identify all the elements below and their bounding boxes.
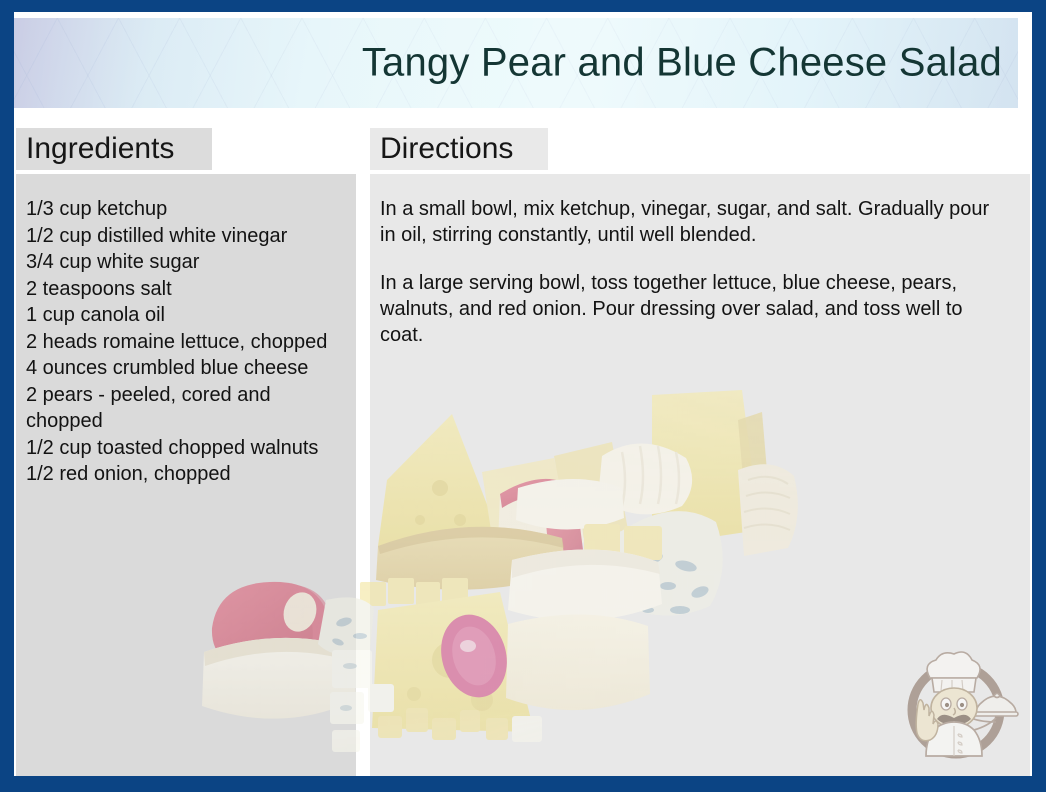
ingredients-panel: Ingredients 1/3 cup ketchup 1/2 cup dist… [16,128,356,776]
recipe-slide: Tangy Pear and Blue Cheese Salad Ingredi… [0,0,1046,792]
directions-tab[interactable]: Directions [370,128,548,170]
ingredients-panel-body: 1/3 cup ketchup 1/2 cup distilled white … [16,174,356,776]
list-item: 4 ounces crumbled blue cheese [26,355,342,382]
list-item: 1 cup canola oil [26,302,342,329]
list-item: 1/2 red onion, chopped [26,461,342,488]
direction-step: In a large serving bowl, toss together l… [380,270,1002,348]
list-item: 3/4 cup white sugar [26,249,342,276]
list-item: 1/2 cup toasted chopped walnuts [26,435,342,462]
list-item: 1/3 cup ketchup [26,196,342,223]
list-item: 2 heads romaine lettuce, chopped [26,329,342,356]
list-item: 2 pears - peeled, cored and chopped [26,382,342,435]
ingredients-list: 1/3 cup ketchup 1/2 cup distilled white … [26,196,342,488]
ingredients-tab[interactable]: Ingredients [16,128,212,170]
list-item: 1/2 cup distilled white vinegar [26,223,342,250]
directions-steps: In a small bowl, mix ketchup, vinegar, s… [380,196,1016,348]
direction-step: In a small bowl, mix ketchup, vinegar, s… [380,196,1002,248]
title-banner: Tangy Pear and Blue Cheese Salad [14,18,1018,108]
slide-content-area: Tangy Pear and Blue Cheese Salad Ingredi… [14,12,1032,776]
ingredients-tab-label: Ingredients [26,134,174,164]
chef-with-cloche-logo [896,642,1024,770]
page-title: Tangy Pear and Blue Cheese Salad [362,41,1002,86]
list-item: 2 teaspoons salt [26,276,342,303]
directions-tab-label: Directions [380,134,513,164]
